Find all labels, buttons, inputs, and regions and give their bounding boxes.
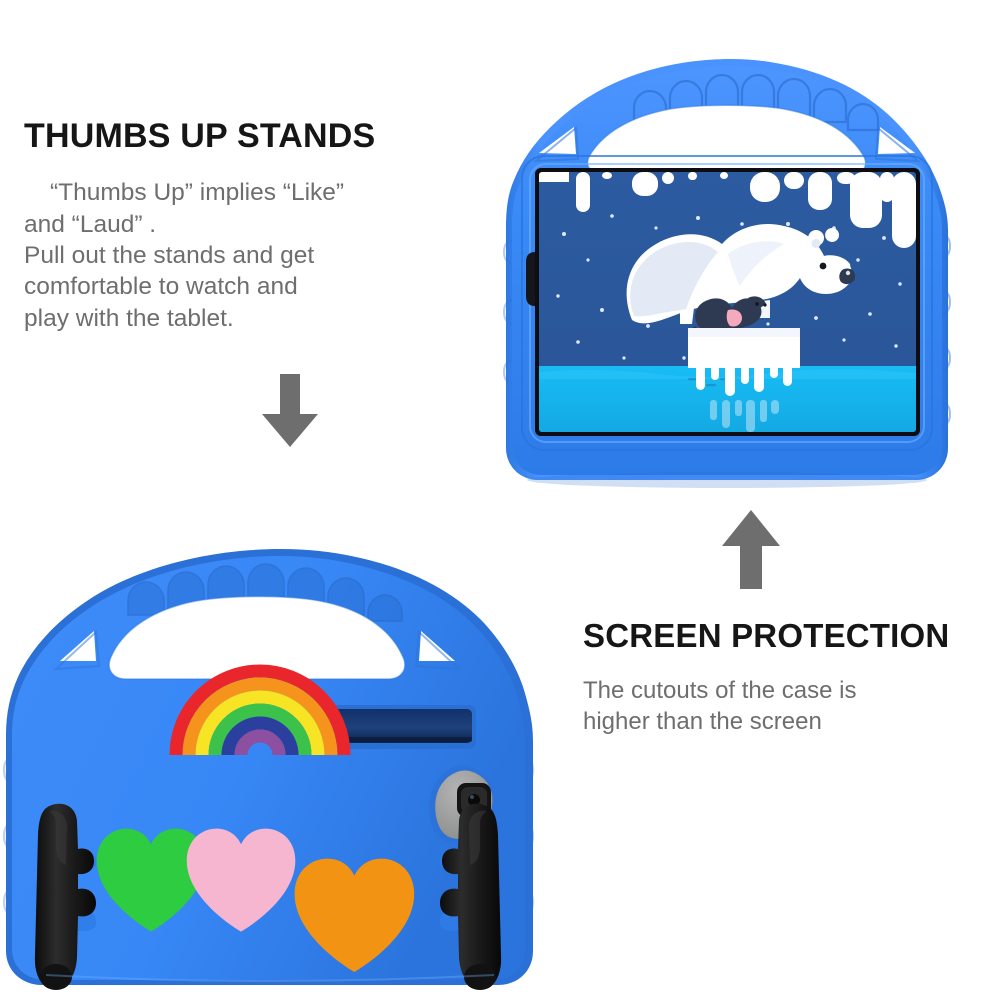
case-back-svg <box>0 505 545 1000</box>
screen-wallpaper <box>539 172 916 436</box>
description-line-4: comfortable to watch and <box>24 271 494 302</box>
feature-description-thumbs-up: “Thumbs Up” implies “Like” and “Laud” . … <box>24 177 494 334</box>
description-line-2: higher than the screen <box>583 707 983 738</box>
feature-description-screen-protection: The cutouts of the case is higher than t… <box>583 676 983 737</box>
arrow-up-icon <box>718 510 784 590</box>
case-front-svg <box>492 28 962 490</box>
feature-screen-protection: SCREEN PROTECTION The cutouts of the cas… <box>583 618 983 738</box>
feature-thumbs-up-stands: THUMBS UP STANDS “Thumbs Up” implies “Li… <box>24 118 494 334</box>
description-line-1: The cutouts of the case is <box>583 676 983 707</box>
arrow-down-icon <box>258 374 322 448</box>
description-line-2: and “Laud” . <box>24 209 494 240</box>
side-port-notch <box>526 252 535 306</box>
description-line-3: Pull out the stands and get <box>24 240 494 271</box>
product-image-case-front-view <box>492 28 962 490</box>
product-image-case-back-view <box>0 505 545 1000</box>
description-line-5: play with the tablet. <box>24 303 494 334</box>
page-title-thumbs-up: THUMBS UP STANDS <box>24 118 494 155</box>
page-title-screen-protection: SCREEN PROTECTION <box>583 618 983 654</box>
description-line-1: “Thumbs Up” implies “Like” <box>24 177 494 208</box>
